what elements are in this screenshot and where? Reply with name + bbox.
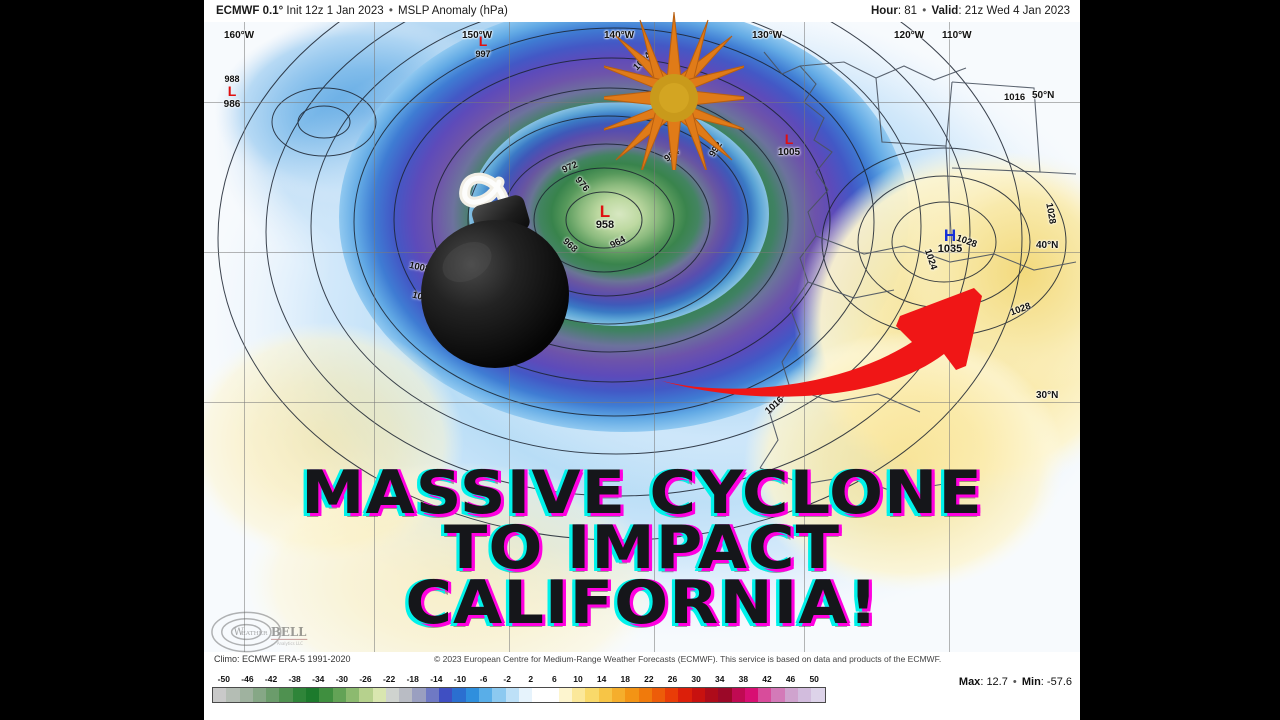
colorbar-tick-label: -6	[480, 674, 488, 684]
colorbar-swatch	[705, 688, 718, 702]
colorbar-swatch	[346, 688, 359, 702]
colorbar-swatch	[452, 688, 465, 702]
video-frame: ECMWF 0.1° Init 12z 1 Jan 2023 • MSLP An…	[0, 0, 1280, 720]
svg-text:BELL: BELL	[271, 625, 307, 639]
colorbar-swatch	[652, 688, 665, 702]
colorbar-tick-label: -14	[430, 674, 442, 684]
colorbar-tick-label: -22	[383, 674, 395, 684]
grid-line-lon	[244, 22, 245, 652]
bomb-icon	[409, 160, 609, 370]
colorbar-swatch	[545, 688, 558, 702]
valid-value: 21z Wed 4 Jan 2023	[965, 5, 1070, 17]
colorbar-swatch	[612, 688, 625, 702]
min-label: Min	[1022, 676, 1041, 688]
colorbar-swatch	[811, 688, 824, 702]
colorbar-tick-label: -46	[241, 674, 253, 684]
minmax-readout: Max: 12.7 • Min: -57.6	[959, 676, 1072, 688]
colorbar-swatch	[253, 688, 266, 702]
colorbar-swatch	[519, 688, 532, 702]
colorbar-tick-label: 26	[668, 674, 677, 684]
colorbar-tick-label: 50	[809, 674, 818, 684]
lon-tick-110w: 110°W	[942, 30, 972, 41]
colorbar-swatch	[599, 688, 612, 702]
lat-tick-30n: 30°N	[1036, 390, 1058, 401]
colorbar-tick-label: -26	[359, 674, 371, 684]
low-coastal-glyph: L	[766, 132, 812, 147]
lon-tick-120w: 120°W	[894, 30, 924, 41]
colorbar-tick-label: 2	[528, 674, 533, 684]
svg-text:Analytics LLC: Analytics LLC	[277, 641, 303, 646]
colorbar-gradient	[212, 687, 826, 703]
colorbar-tick-label: -38	[288, 674, 300, 684]
min-value: -57.6	[1047, 676, 1072, 688]
colorbar-swatch	[625, 688, 638, 702]
colorbar-tick-label: -2	[503, 674, 511, 684]
lon-tick-130w: 130°W	[752, 30, 782, 41]
colorbar-tick-label: 10	[573, 674, 582, 684]
colorbar-swatch	[745, 688, 758, 702]
colorbar-swatch	[240, 688, 253, 702]
grid-line-lon	[374, 22, 375, 652]
colorbar-swatch	[665, 688, 678, 702]
attribution-note: © 2023 European Centre for Medium-Range …	[434, 654, 1074, 664]
colorbar-tick-label: 34	[715, 674, 724, 684]
colorbar-tick-label: -30	[336, 674, 348, 684]
colorbar-swatch	[266, 688, 279, 702]
minmax-bullet: •	[1011, 676, 1019, 688]
high-glyph: H	[926, 228, 974, 243]
colorbar-tick-label: 42	[762, 674, 771, 684]
low-west-glyph: L	[210, 84, 254, 99]
colorbar-swatch	[439, 688, 452, 702]
pressure-center-low-north: L 997	[466, 34, 500, 59]
colorbar-swatch	[559, 688, 572, 702]
letterbox-left	[0, 0, 204, 720]
colorbar-tick-label: -10	[454, 674, 466, 684]
max-value: 12.7	[986, 676, 1007, 688]
colorbar-swatch	[306, 688, 319, 702]
low-coastal-value: 1005	[766, 147, 812, 158]
colorbar-swatch	[399, 688, 412, 702]
header-bullet-1: •	[387, 5, 395, 17]
colorbar-ticks: -50-46-42-38-34-30-26-22-18-14-10-6-2261…	[212, 674, 826, 687]
grid-line-lat	[204, 402, 1080, 403]
header-right: Hour: 81 • Valid: 21z Wed 4 Jan 2023	[871, 0, 1070, 22]
pressure-center-high: H 1035	[926, 228, 974, 255]
low-north-glyph: L	[466, 34, 500, 49]
weather-map-panel: ECMWF 0.1° Init 12z 1 Jan 2023 • MSLP An…	[204, 0, 1080, 720]
colorbar-swatch	[718, 688, 731, 702]
field-name: MSLP Anomaly (hPa)	[398, 5, 508, 17]
colorbar-swatch	[333, 688, 346, 702]
colorbar-swatch	[532, 688, 545, 702]
colorbar-swatch	[758, 688, 771, 702]
svg-text:EATHER: EATHER	[241, 631, 268, 637]
init-time: Init 12z 1 Jan 2023	[286, 5, 383, 17]
pressure-center-low-coastal: L 1005	[766, 132, 812, 158]
pressure-center-low-west: 988 L 986	[210, 74, 254, 110]
letterbox-right	[1080, 0, 1280, 720]
max-label: Max	[959, 676, 980, 688]
red-arrow-icon	[644, 270, 1024, 400]
model-name: ECMWF 0.1°	[216, 5, 283, 17]
hour-label: Hour	[871, 5, 898, 17]
colorbar-swatch	[279, 688, 292, 702]
colorbar: -50-46-42-38-34-30-26-22-18-14-10-6-2261…	[212, 674, 826, 703]
colorbar-tick-label: 38	[739, 674, 748, 684]
lat-tick-40n: 40°N	[1036, 240, 1058, 251]
colorbar-swatch	[639, 688, 652, 702]
colorbar-swatch	[771, 688, 784, 702]
colorbar-swatch	[359, 688, 372, 702]
colorbar-swatch	[386, 688, 399, 702]
colorbar-swatch	[692, 688, 705, 702]
colorbar-swatch	[466, 688, 479, 702]
colorbar-swatch	[506, 688, 519, 702]
colorbar-tick-label: -50	[218, 674, 230, 684]
colorbar-swatch	[412, 688, 425, 702]
explosion-spark-icon	[604, 10, 744, 170]
colorbar-tick-label: 18	[621, 674, 630, 684]
colorbar-swatch	[213, 688, 226, 702]
colorbar-tick-label: -18	[407, 674, 419, 684]
colorbar-tick-label: 14	[597, 674, 606, 684]
weatherbell-logo: W EATHER BELL Analytics LLC	[208, 608, 326, 656]
colorbar-swatch	[798, 688, 811, 702]
colorbar-tick-label: -34	[312, 674, 324, 684]
colorbar-swatch	[785, 688, 798, 702]
colorbar-tick-label: 22	[644, 674, 653, 684]
colorbar-swatch	[479, 688, 492, 702]
colorbar-tick-label: 30	[691, 674, 700, 684]
colorbar-swatch	[293, 688, 306, 702]
low-west-value-986: 986	[210, 99, 254, 110]
valid-label: Valid	[931, 5, 958, 17]
map-footer: W EATHER BELL Analytics LLC Climo: ECMWF…	[204, 652, 1080, 720]
colorbar-tick-label: 6	[552, 674, 557, 684]
colorbar-tick-label: -42	[265, 674, 277, 684]
colorbar-swatch	[373, 688, 386, 702]
lon-tick-160w: 160°W	[224, 30, 254, 41]
lat-tick-50n: 50°N	[1032, 90, 1054, 101]
colorbar-swatch	[678, 688, 691, 702]
climatology-note: Climo: ECMWF ERA-5 1991-2020	[214, 654, 351, 664]
colorbar-tick-label: 46	[786, 674, 795, 684]
colorbar-swatch	[572, 688, 585, 702]
isobar-label-1016b: 1016	[1004, 92, 1025, 103]
hour-value: 81	[904, 5, 917, 17]
low-north-value: 997	[466, 49, 500, 59]
colorbar-swatch	[226, 688, 239, 702]
colorbar-swatch	[585, 688, 598, 702]
colorbar-swatch	[426, 688, 439, 702]
colorbar-swatch	[319, 688, 332, 702]
colorbar-swatch	[492, 688, 505, 702]
colorbar-swatch	[732, 688, 745, 702]
header-bullet-2: •	[920, 5, 928, 17]
high-value: 1035	[926, 243, 974, 255]
header-left: ECMWF 0.1° Init 12z 1 Jan 2023 • MSLP An…	[216, 0, 508, 22]
